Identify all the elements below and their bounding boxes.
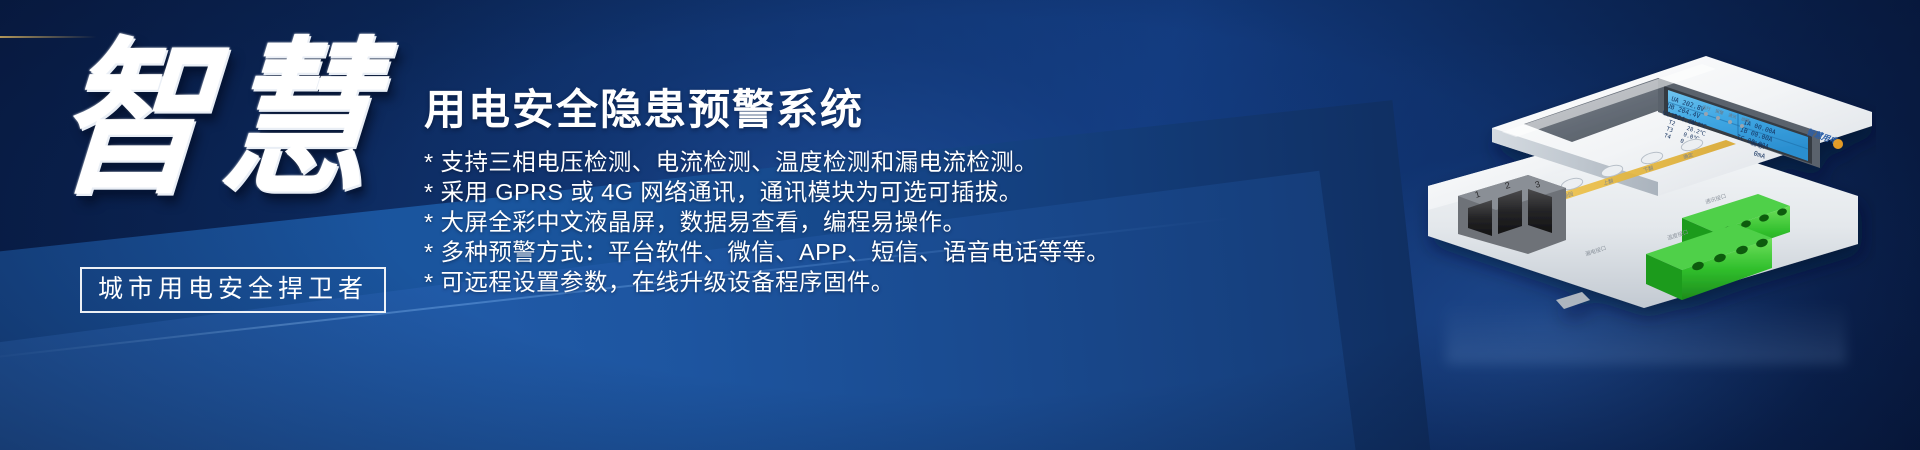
bullet-marker: * (424, 149, 434, 175)
device-sun-logo-icon (1833, 139, 1843, 149)
device-body: UA 202.8V UB 204.4V UC 204.6V IA 00.00A … (1428, 56, 1872, 309)
feature-text: 支持三相电压检测、电流检测、温度检测和漏电流检测。 (441, 149, 1039, 175)
feature-text: 可远程设置参数，在线升级设备程序固件。 (441, 269, 895, 295)
device-photo-stage: UA 202.8V UB 204.4V UC 204.6V IA 00.00A … (1406, 8, 1876, 358)
feature-list: *支持三相电压检测、电流检测、温度检测和漏电流检测。 *采用 GPRS 或 4G… (424, 147, 1124, 297)
device-image: UA 202.8V UB 204.4V UC 204.6V IA 00.00A … (1406, 8, 1876, 338)
brand-badge-label: 城市用电安全捍卫者 (98, 276, 368, 302)
list-item: *多种预警方式：平台软件、微信、APP、短信、语音电话等等。 (424, 237, 1124, 267)
feature-text: 采用 GPRS 或 4G 网络通讯，通讯模块为可选可插拔。 (441, 179, 1023, 205)
brand-calligraphy: 智慧 (50, 22, 426, 203)
bullet-marker: * (424, 179, 434, 205)
feature-text: 大屏全彩中文液晶屏，数据易查看，编程易操作。 (441, 209, 967, 235)
list-item: *采用 GPRS 或 4G 网络通讯，通讯模块为可选可插拔。 (424, 177, 1124, 207)
bullet-marker: * (424, 239, 434, 265)
list-item: *可远程设置参数，在线升级设备程序固件。 (424, 267, 1124, 297)
device-reflection (1446, 300, 1846, 364)
brand-block: 智慧 城市用电安全捍卫者 (66, 22, 426, 312)
list-item: *大屏全彩中文液晶屏，数据易查看，编程易操作。 (424, 207, 1124, 237)
page-title: 用电安全隐患预警系统 (424, 86, 1124, 133)
bullet-marker: * (424, 209, 434, 235)
brand-badge: 城市用电安全捍卫者 (80, 267, 386, 313)
copy-block: 用电安全隐患预警系统 *支持三相电压检测、电流检测、温度检测和漏电流检测。 *采… (424, 86, 1124, 297)
list-item: *支持三相电压检测、电流检测、温度检测和漏电流检测。 (424, 147, 1124, 177)
promo-banner: 智慧 城市用电安全捍卫者 用电安全隐患预警系统 *支持三相电压检测、电流检测、温… (0, 0, 1920, 450)
bullet-marker: * (424, 269, 434, 295)
feature-text: 多种预警方式：平台软件、微信、APP、短信、语音电话等等。 (441, 239, 1111, 265)
